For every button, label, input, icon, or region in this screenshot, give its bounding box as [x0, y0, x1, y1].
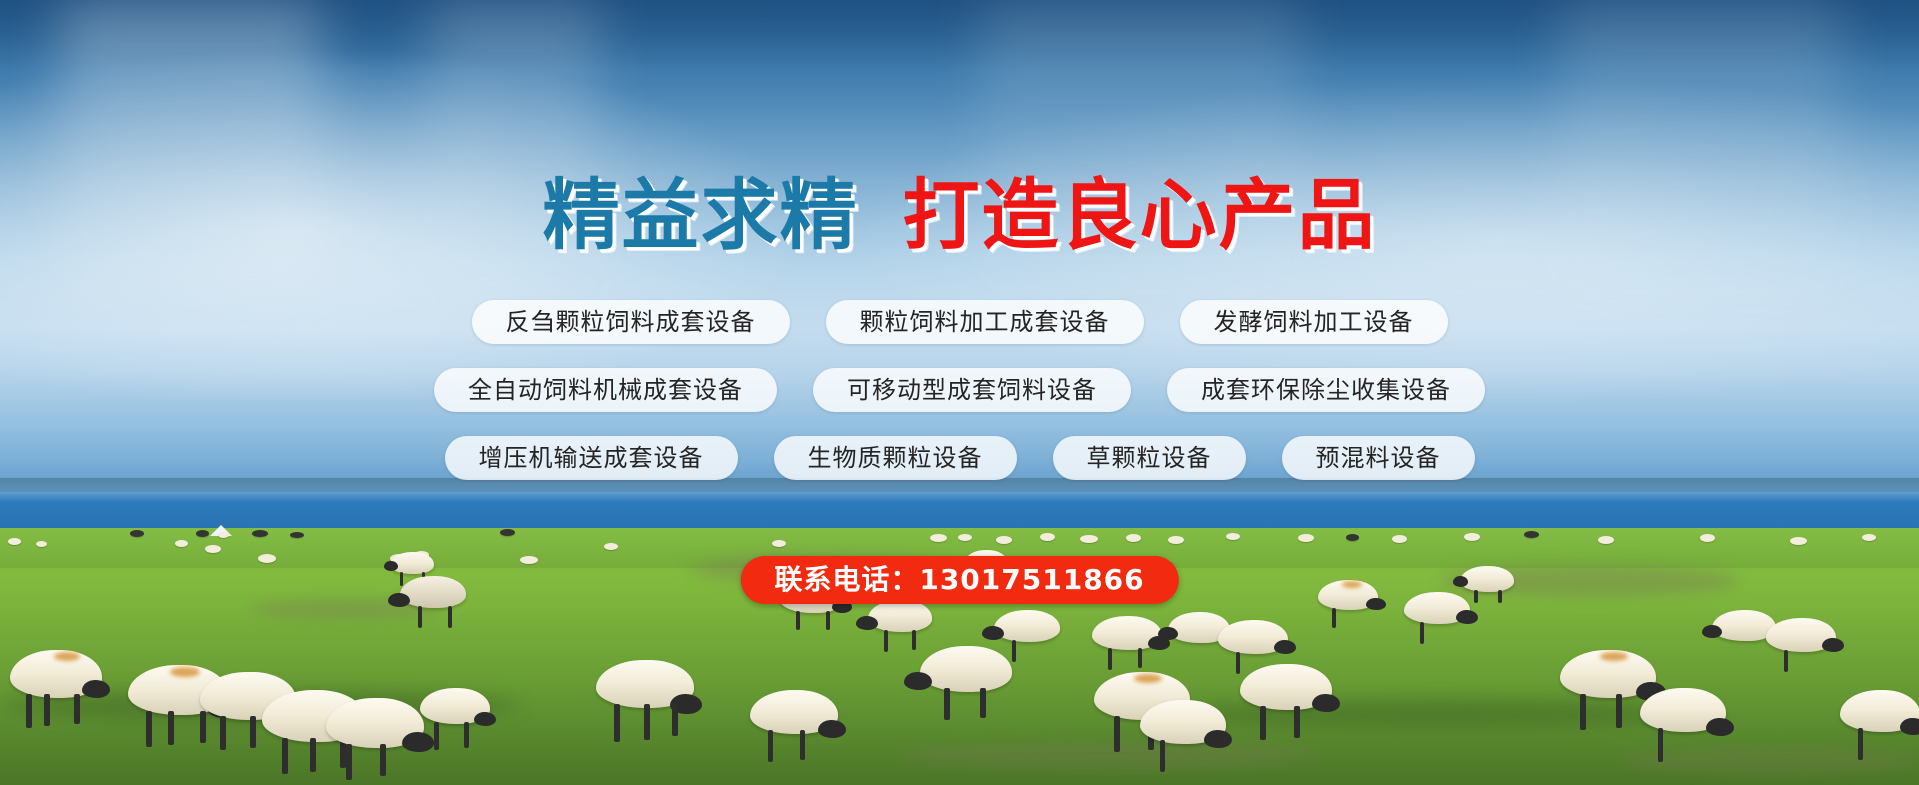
distant-sheep: [258, 554, 276, 563]
distant-sheep: [1080, 535, 1098, 543]
sheep: [1318, 580, 1378, 610]
sheep: [1766, 618, 1836, 652]
headline-part1: 精益求精: [543, 172, 859, 261]
category-pill-group: 反刍颗粒饲料成套设备 颗粒饲料加工成套设备 发酵饲料加工设备 全自动饲料机械成套…: [0, 300, 1919, 504]
sheep: [1460, 566, 1514, 592]
category-pill-pellet-feed-processing-complete-equipment[interactable]: 颗粒饲料加工成套设备: [826, 300, 1144, 344]
headline-part2: 打造良心产品: [903, 172, 1377, 261]
distant-sheep: [1862, 534, 1876, 541]
sheep: [400, 576, 466, 608]
contact-phone-badge[interactable]: 联系电话：13017511866: [740, 556, 1178, 604]
distant-sheep: [1168, 536, 1184, 544]
distant-sheep: [1298, 534, 1314, 542]
category-pill-biomass-pellet-equipment[interactable]: 生物质颗粒设备: [774, 436, 1017, 480]
sheep: [10, 650, 102, 698]
sheep: [1092, 616, 1162, 650]
distant-sheep: [218, 532, 229, 538]
category-row-2: 全自动饲料机械成套设备 可移动型成套饲料设备 成套环保除尘收集设备: [0, 368, 1919, 412]
sheep: [1640, 688, 1726, 732]
category-row-1: 反刍颗粒饲料成套设备 颗粒饲料加工成套设备 发酵饲料加工设备: [0, 300, 1919, 344]
sheep: [868, 600, 932, 632]
sheep: [420, 688, 490, 724]
headline: 精益求精打造良心产品: [0, 178, 1919, 255]
distant-sheep: [290, 532, 304, 538]
category-pill-grass-pellet-equipment[interactable]: 草颗粒设备: [1053, 436, 1246, 480]
banner-image: 精益求精打造良心产品 反刍颗粒饲料成套设备 颗粒饲料加工成套设备 发酵饲料加工设…: [0, 0, 1919, 785]
distant-sheep: [1598, 536, 1614, 544]
distant-sheep: [1790, 537, 1807, 545]
distant-sheep: [1126, 534, 1141, 542]
distant-sheep: [500, 529, 515, 536]
distant-sheep: [8, 538, 21, 545]
distant-sheep: [930, 534, 947, 542]
dirt-patch: [900, 742, 1320, 770]
distant-sheep: [958, 534, 972, 541]
dirt-patch: [1620, 748, 1919, 774]
category-pill-fermented-feed-processing-equipment[interactable]: 发酵饲料加工设备: [1180, 300, 1448, 344]
sheep: [994, 610, 1060, 642]
sheep: [920, 646, 1012, 692]
distant-sheep: [996, 536, 1012, 544]
distant-sheep: [1392, 535, 1407, 543]
category-pill-ruminant-pellet-feed-complete-equipment[interactable]: 反刍颗粒饲料成套设备: [472, 300, 790, 344]
distant-sheep: [520, 556, 538, 564]
distant-sheep: [772, 540, 786, 547]
distant-sheep: [1226, 533, 1240, 540]
category-pill-premix-equipment[interactable]: 预混料设备: [1282, 436, 1475, 480]
distant-sheep: [175, 540, 188, 547]
category-pill-complete-environmental-dust-collection-equipment[interactable]: 成套环保除尘收集设备: [1167, 368, 1485, 412]
distant-sheep: [252, 530, 268, 537]
distant-sheep: [1346, 534, 1359, 541]
sheep: [326, 698, 424, 748]
distant-sheep: [1040, 533, 1055, 541]
sheep: [750, 690, 838, 734]
distant-sheep: [1700, 534, 1715, 542]
distant-sheep: [130, 530, 144, 537]
category-row-3: 增压机输送成套设备 生物质颗粒设备 草颗粒设备 预混料设备: [0, 436, 1919, 480]
category-pill-fully-automatic-feed-machinery-complete-equipment[interactable]: 全自动饲料机械成套设备: [434, 368, 777, 412]
distant-sheep: [196, 530, 209, 537]
sheep: [1240, 664, 1332, 710]
sheep: [390, 552, 434, 574]
distant-sheep: [1464, 533, 1480, 541]
distant-sheep: [1524, 531, 1539, 538]
category-pill-mobile-complete-feed-equipment[interactable]: 可移动型成套饲料设备: [813, 368, 1131, 412]
sheep: [1840, 690, 1919, 732]
distant-sheep: [604, 543, 618, 550]
category-pill-booster-conveying-complete-equipment[interactable]: 增压机输送成套设备: [445, 436, 738, 480]
distant-sheep: [36, 541, 47, 547]
sheep: [1140, 700, 1226, 744]
sheep: [1404, 592, 1470, 624]
sheep: [596, 660, 694, 708]
distant-sheep: [205, 545, 221, 553]
sheep: [1218, 620, 1288, 654]
